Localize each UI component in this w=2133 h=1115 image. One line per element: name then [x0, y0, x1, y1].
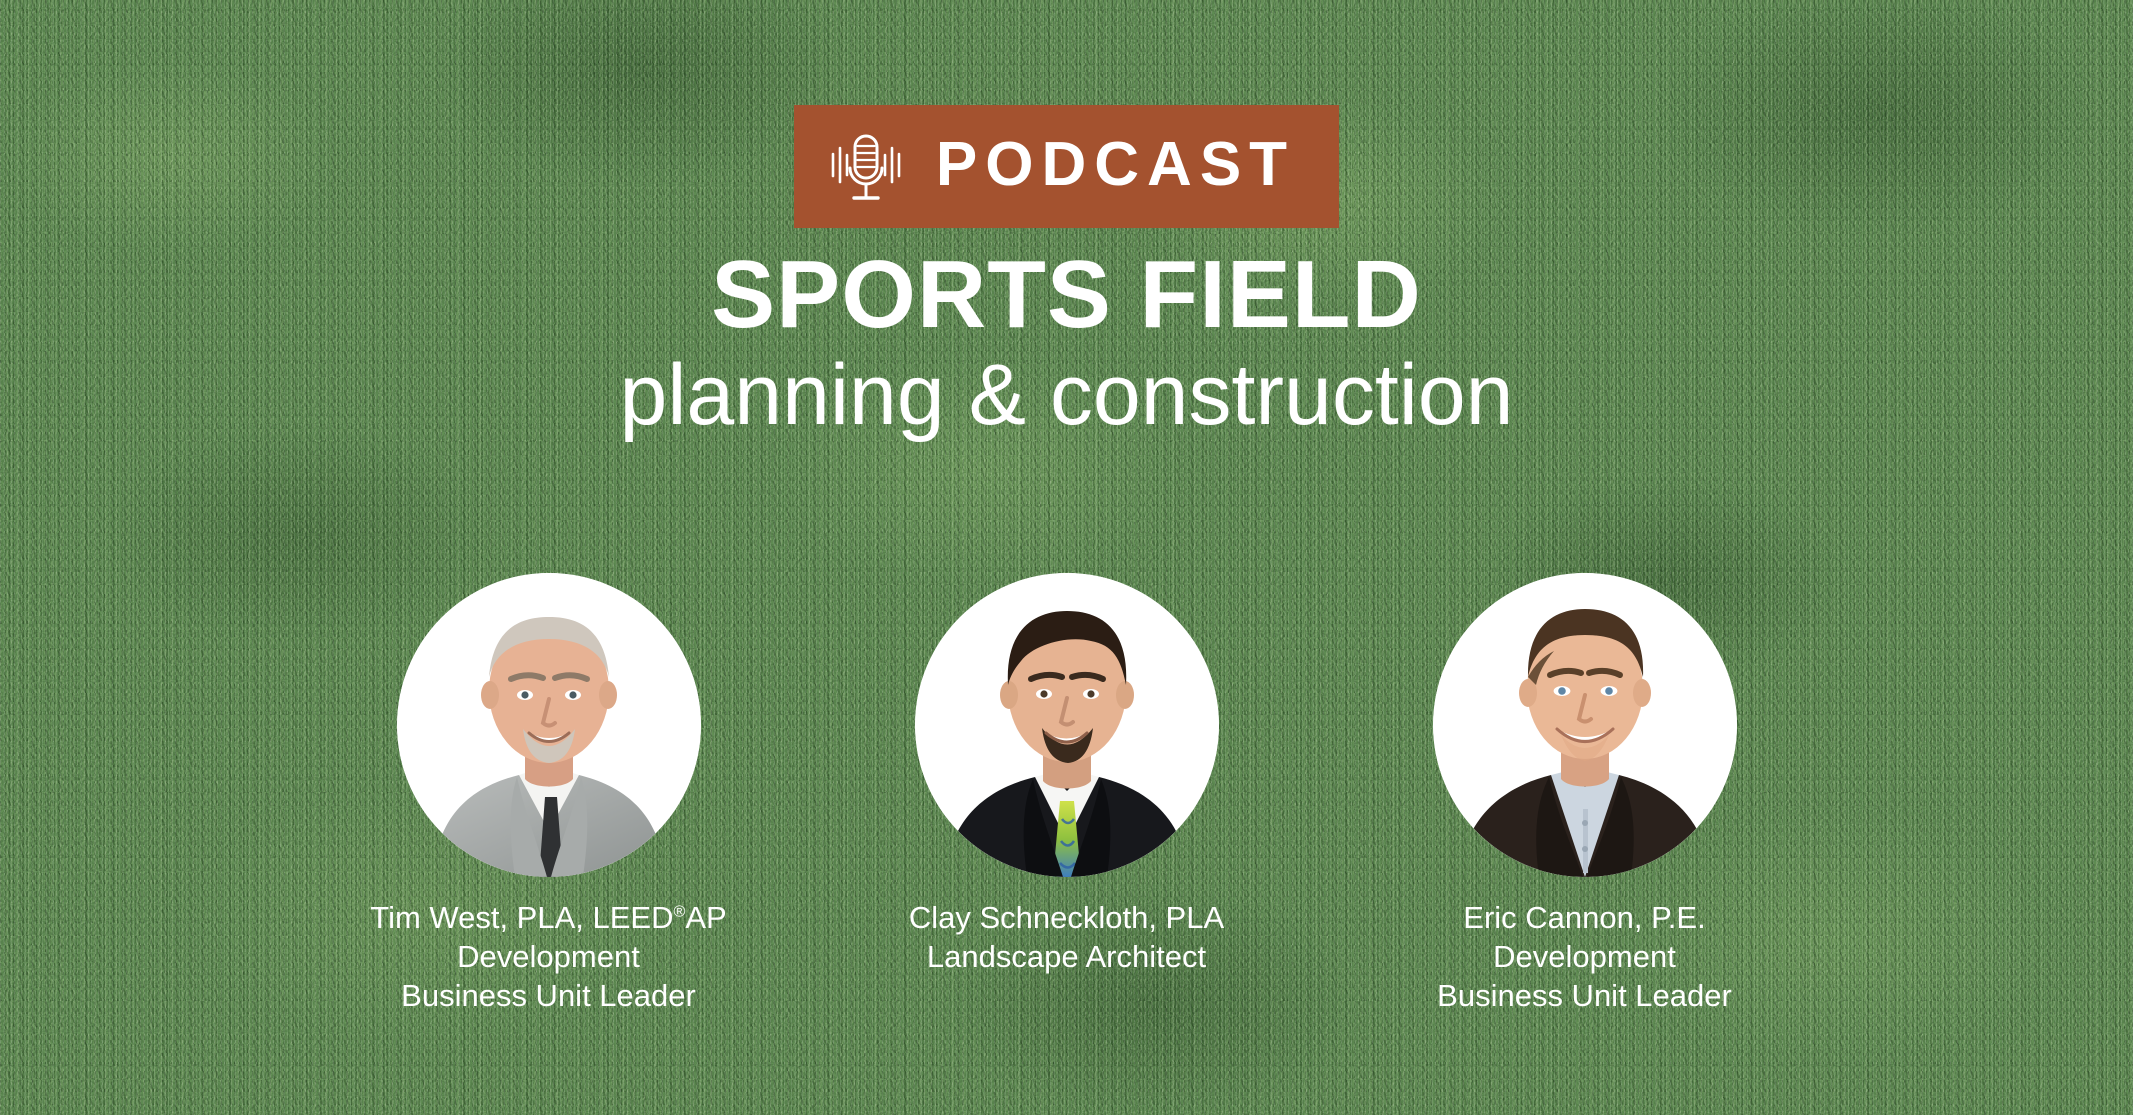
page-subtitle: planning & construction — [619, 350, 1513, 440]
speaker-role-line-1: Landscape Architect — [852, 938, 1282, 977]
speaker-card: Tim West, PLA, LEED®AP Development Busin… — [397, 573, 701, 1015]
speaker-role-line-2: Business Unit Leader — [334, 977, 764, 1016]
speaker-caption: Tim West, PLA, LEED®AP Development Busin… — [334, 899, 764, 1015]
speakers-row: Tim West, PLA, LEED®AP Development Busin… — [0, 573, 2133, 1015]
speaker-role-line-1: Development — [1370, 938, 1800, 977]
speaker-name: Tim West, PLA, LEED®AP — [334, 899, 764, 938]
speaker-name: Clay Schneckloth, PLA — [852, 899, 1282, 938]
speaker-role-line-1: Development — [334, 938, 764, 977]
speaker-name: Eric Cannon, P.E. — [1370, 899, 1800, 938]
speaker-card: Clay Schneckloth, PLA Landscape Architec… — [915, 573, 1219, 977]
speaker-caption: Eric Cannon, P.E. Development Business U… — [1370, 899, 1800, 1015]
podcast-badge: PODCAST — [794, 105, 1339, 228]
podcast-promo-graphic: PODCAST SPORTS FIELD planning & construc… — [0, 0, 2133, 1115]
headshot-clay-schneckloth — [915, 573, 1219, 877]
registered-mark: ® — [673, 903, 685, 921]
header-block: PODCAST SPORTS FIELD planning & construc… — [0, 105, 2133, 440]
headshot-tim-west — [397, 573, 701, 877]
speaker-card: Eric Cannon, P.E. Development Business U… — [1433, 573, 1737, 1015]
page-title: SPORTS FIELD — [711, 246, 1422, 344]
speaker-role-line-2: Business Unit Leader — [1370, 977, 1800, 1016]
microphone-soundwave-icon — [830, 128, 902, 206]
headshot-eric-cannon — [1433, 573, 1737, 877]
podcast-badge-label: PODCAST — [936, 134, 1295, 200]
speaker-caption: Clay Schneckloth, PLA Landscape Architec… — [852, 899, 1282, 977]
